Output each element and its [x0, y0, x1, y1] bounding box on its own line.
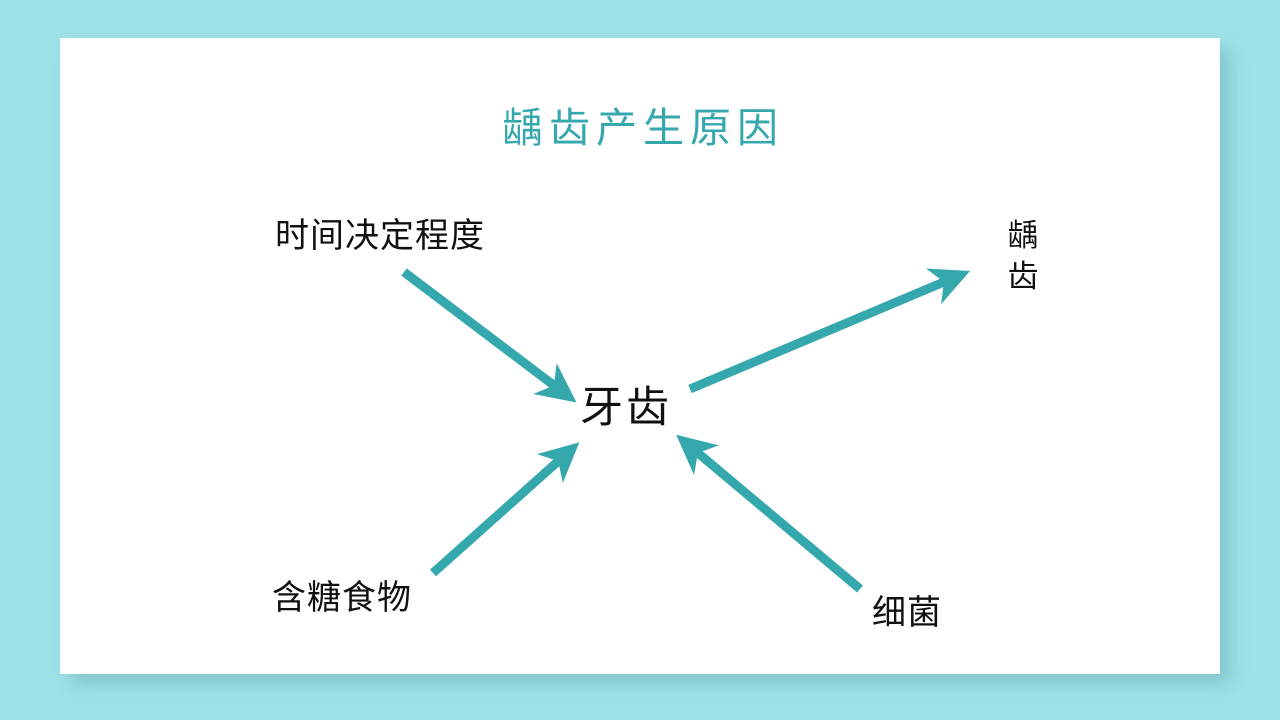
- node-label-time: 时间决定程度: [275, 216, 485, 256]
- node-label-teeth: 牙齿: [580, 383, 672, 433]
- diagram-arrow-layer: [60, 38, 1220, 674]
- node-label-bacteria: 细菌: [872, 593, 942, 633]
- node-label-caries: 龋 齿: [1003, 216, 1043, 298]
- slide-root: 龋齿产生原因 时间决定程度 牙齿 含糖食物 细菌 龋 齿: [0, 0, 1280, 720]
- node-label-caries-char-2: 齿: [1003, 257, 1043, 298]
- arrow-time-to-teeth: [404, 272, 560, 390]
- node-label-caries-char-1: 龋: [1003, 216, 1043, 257]
- arrow-teeth-to-caries: [690, 279, 951, 389]
- slide-content-card: 龋齿产生原因 时间决定程度 牙齿 含糖食物 细菌 龋 齿: [60, 38, 1220, 674]
- arrow-bacteria-to-teeth: [692, 448, 860, 589]
- node-label-sugary-food: 含糖食物: [272, 578, 412, 618]
- arrow-sugar-to-teeth: [433, 456, 564, 573]
